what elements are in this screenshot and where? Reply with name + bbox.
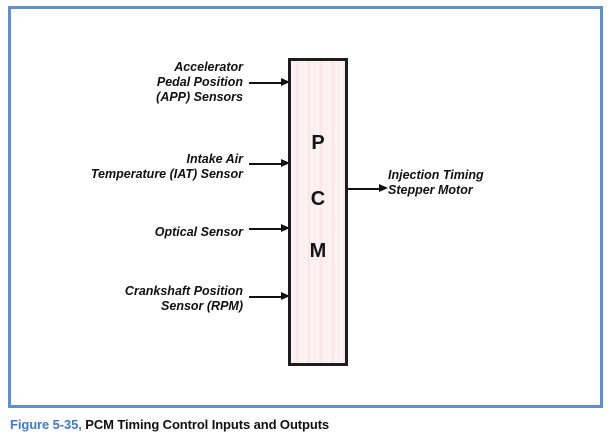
pcm-block: P C M (288, 58, 348, 366)
diagram-canvas: Accelerator Pedal Position (APP) Sensors… (11, 9, 606, 405)
arrow-shaft (348, 188, 380, 190)
pcm-letter-p: P (291, 133, 345, 153)
arrow-shaft (249, 296, 282, 298)
arrow-right-icon-output (348, 184, 388, 193)
figure-title: PCM Timing Control Inputs and Outputs (85, 417, 329, 432)
pcm-letter-m: M (291, 241, 345, 261)
input-label-optical-sensor: Optical Sensor (155, 225, 243, 240)
figure-frame: Accelerator Pedal Position (APP) Sensors… (8, 6, 603, 408)
input-label-crankshaft-position: Crankshaft Position Sensor (RPM) (125, 284, 243, 314)
arrow-shaft (249, 163, 282, 165)
figure-caption: Figure 5-35, PCM Timing Control Inputs a… (10, 417, 329, 432)
arrow-right-icon-crankshaft (249, 292, 290, 301)
arrow-right-icon-iat (249, 159, 290, 168)
input-label-intake-air-temperature: Intake Air Temperature (IAT) Sensor (91, 152, 243, 182)
pcm-letter-c: C (291, 189, 345, 209)
arrow-right-icon-optical (249, 224, 290, 233)
arrow-shaft (249, 228, 282, 230)
arrow-head (379, 184, 388, 192)
input-label-accelerator-pedal-position: Accelerator Pedal Position (APP) Sensors (156, 60, 243, 105)
arrow-right-icon-app (249, 78, 290, 87)
arrow-shaft (249, 82, 282, 84)
output-label-injection-timing-stepper-motor: Injection Timing Stepper Motor (388, 168, 484, 198)
figure-number: Figure 5-35, (10, 417, 82, 432)
